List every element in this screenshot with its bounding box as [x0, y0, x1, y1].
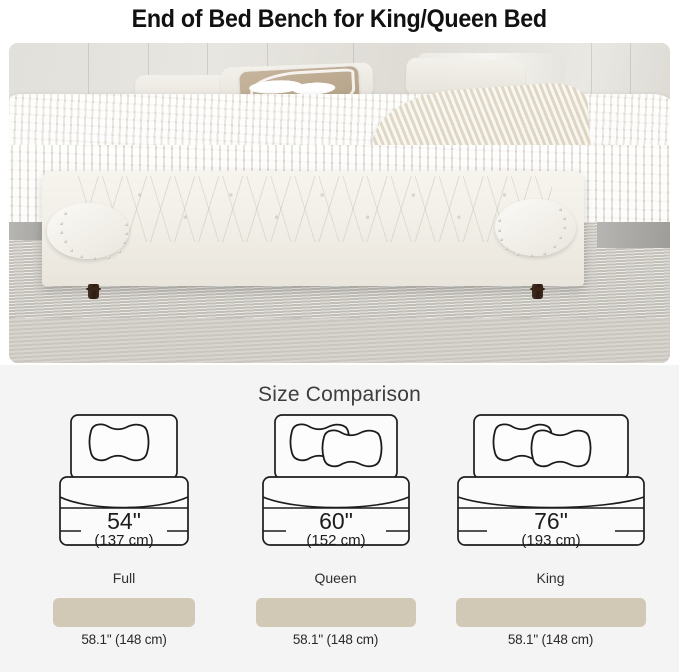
bed-column-full: 54" (137 cm) Full 58.1" (148 cm): [46, 413, 202, 647]
bed-diagram-king: 76" (193 cm): [457, 413, 645, 565]
bed-width-cm: (137 cm): [94, 532, 153, 549]
bed-width-inches: 60": [319, 508, 353, 534]
end-of-bed-bench: [42, 171, 584, 286]
bed-width-inches: 76": [534, 508, 568, 534]
bench-leg-right: [532, 284, 543, 299]
bench-bar-queen: [256, 598, 416, 627]
bed-width-cm: (152 cm): [306, 532, 365, 549]
bench-bar-full: [53, 598, 195, 627]
bench-length-king: 58.1" (148 cm): [448, 632, 653, 647]
pillow-shape: [90, 424, 149, 460]
bed-width-cm: (193 cm): [521, 532, 580, 549]
bed-size-name-full: Full: [46, 570, 202, 586]
size-comparison-title: Size Comparison: [0, 365, 679, 407]
size-comparison-section: Size Comparison 54" (137 cm) Full 58.1" …: [0, 365, 679, 672]
hero-photo-container: 0 5: [0, 38, 679, 365]
bed-diagram-full: 54" (137 cm): [59, 413, 189, 565]
bedroom-product-photo: 0 5: [9, 43, 670, 363]
pillow-shape: [531, 430, 590, 466]
bench-tufting-buttons: [85, 180, 540, 240]
page-title-bar: End of Bed Bench for King/Queen Bed: [0, 0, 679, 38]
bench-length-queen: 58.1" (148 cm): [248, 632, 423, 647]
bench-bar-king: [456, 598, 646, 627]
bed-diagram-queen: 60" (152 cm): [262, 413, 410, 565]
pillow-shape: [322, 430, 381, 466]
bed-size-name-queen: Queen: [248, 570, 423, 586]
rug-edge-band: [9, 318, 670, 363]
bed-width-inches: 54": [107, 508, 141, 534]
bed-column-king: 76" (193 cm) King 58.1" (148 cm): [448, 413, 653, 647]
page-title: End of Bed Bench for King/Queen Bed: [132, 5, 547, 34]
bed-column-queen: 60" (152 cm) Queen 58.1" (148 cm): [248, 413, 423, 647]
bench-leg-left: [88, 284, 99, 299]
bed-diagram-row: 54" (137 cm) Full 58.1" (148 cm) 60" (15…: [0, 413, 679, 672]
bed-size-name-king: King: [448, 570, 653, 586]
bench-length-full: 58.1" (148 cm): [46, 632, 202, 647]
